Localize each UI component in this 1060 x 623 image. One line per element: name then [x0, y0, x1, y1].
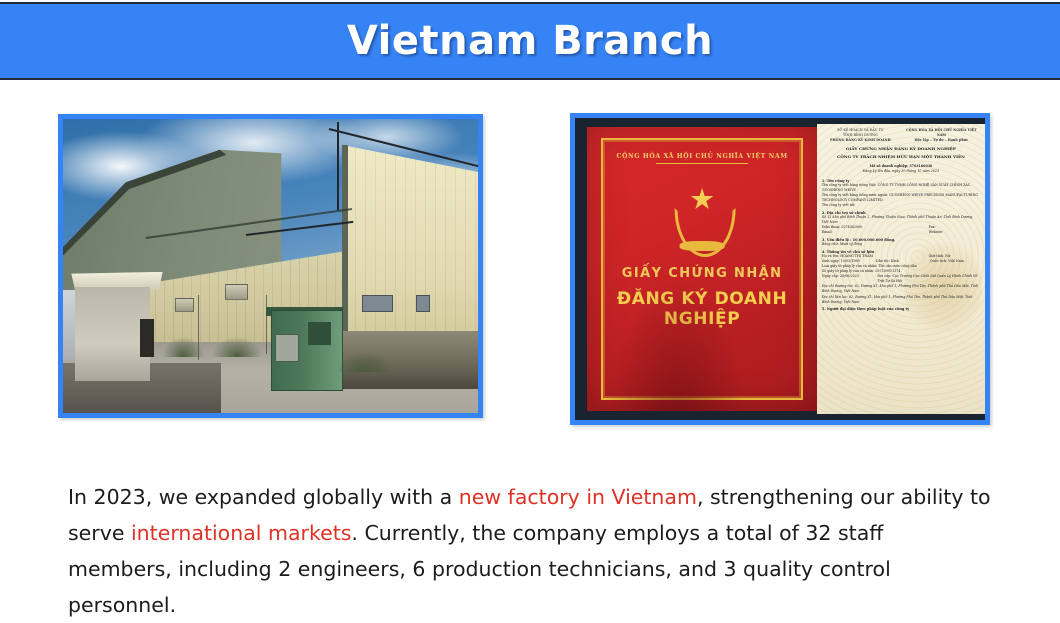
- owner-id-issue-date: Ngày cấp: 28/06/2023: [822, 274, 873, 284]
- section-2-website: Website:: [929, 230, 980, 235]
- section-2-email: Email:: [822, 230, 925, 235]
- certificate-heading-1: GIẤY CHỨNG NHẬN ĐĂNG KÝ DOANH NGHIỆP: [822, 146, 980, 153]
- guard-booth-panel: [275, 334, 300, 362]
- vietnam-emblem-icon: [668, 184, 737, 252]
- section-1-line-3: Tên công ty viết tắt:: [822, 203, 980, 208]
- cover-title-line-1: GIẤY CHỨNG NHẬN: [587, 266, 817, 281]
- cover-rule: [656, 163, 748, 164]
- section-2-email-web-row: Email: Website:: [822, 230, 980, 235]
- section-3-amount-words: Bằng chữ: Mười tỷ đồng: [822, 242, 980, 247]
- owner-nationality: Quốc tịch: Việt Nam: [930, 259, 980, 264]
- air-conditioner-unit: [175, 298, 194, 312]
- cover-country-line: CỘNG HÒA XÃ HỘI CHỦ NGHĨA VIỆT NAM: [587, 153, 817, 160]
- owner-permanent-address: Địa chỉ thường trú: 62, Đường X1, khu ph…: [822, 284, 980, 294]
- section-1-line-2: Tên công ty viết bằng tiếng nước ngoài: …: [822, 193, 980, 203]
- entrance-door: [140, 319, 155, 357]
- certificate-heading-2: CÔNG TY TRÁCH NHIỆM HỮU HẠN MỘT THÀNH VI…: [822, 154, 980, 161]
- first-registration-date: Đăng ký lần đầu, ngày 30 tháng 10 năm 20…: [822, 169, 980, 174]
- section-2-address: Số 12 khu phố Bình Thuận 2, Phường Thuận…: [822, 215, 980, 225]
- certificate-page: SỞ KẾ HOẠCH VÀ ĐẦU TƯ TỈNH BÌNH DƯƠNG PH…: [817, 124, 985, 414]
- paragraph-segment-1: In 2023, we expanded globally with a: [68, 485, 459, 509]
- slide-header-band: Vietnam Branch: [0, 2, 1060, 80]
- section-4-issue-row: Ngày cấp: 28/06/2023 Nơi cấp: Cục Trưởng…: [822, 274, 980, 284]
- section-1-line-1: Tên công ty viết bằng tiếng Việt: CÔNG T…: [822, 183, 980, 193]
- window: [362, 295, 393, 312]
- nation-line-2: Độc lập – Tự do – Hạnh phúc: [903, 138, 980, 143]
- paragraph-highlight-new-factory: new factory in Vietnam: [459, 485, 697, 509]
- cover-title-line-2: ĐĂNG KÝ DOANH NGHIỆP: [587, 289, 817, 329]
- nation-line-1: CỘNG HÒA XÃ HỘI CHỦ NGHĨA VIỆT NAM: [903, 128, 980, 138]
- downpipe: [266, 295, 267, 354]
- section-5-heading: 5. Người đại diện theo pháp luật của côn…: [822, 307, 980, 311]
- nation-motto-block: CỘNG HÒA XÃ HỘI CHỦ NGHĨA VIỆT NAM Độc l…: [903, 128, 980, 142]
- emblem-band: [680, 241, 724, 251]
- air-conditioner-unit: [225, 284, 248, 301]
- emblem-star: [690, 188, 713, 211]
- ministry-line-3: PHÒNG ĐĂNG KÝ KINH DOANH: [822, 138, 899, 143]
- page-title: Vietnam Branch: [347, 18, 713, 64]
- shrub: [337, 351, 395, 372]
- owner-contact-address: Địa chỉ liên lạc: 62, Đường X1, khu phố …: [822, 295, 980, 305]
- shrub: [163, 337, 205, 358]
- business-certificate-photo[interactable]: CỘNG HÒA XÃ HỘI CHỦ NGHĨA VIỆT NAM GIẤY …: [570, 113, 990, 425]
- shrub: [212, 337, 262, 358]
- certificate-photo-canvas: CỘNG HÒA XÃ HỘI CHỦ NGHĨA VIỆT NAM GIẤY …: [575, 118, 985, 420]
- window: [416, 295, 430, 312]
- guard-booth-window: [308, 322, 331, 346]
- body-paragraph: In 2023, we expanded globally with a new…: [68, 479, 993, 623]
- owner-id-issue-place: Nơi cấp: Cục Trưởng Cục Cảnh Sát Quản Lý…: [877, 274, 980, 284]
- certificate-body: 1. Tên công ty Tên công ty viết bằng tiế…: [822, 179, 980, 311]
- certificate-cover: CỘNG HÒA XÃ HỘI CHỦ NGHĨA VIỆT NAM GIẤY …: [587, 127, 817, 411]
- factory-photo-canvas: [63, 119, 478, 413]
- page-header-row: SỞ KẾ HOẠCH VÀ ĐẦU TƯ TỈNH BÌNH DƯƠNG PH…: [822, 128, 980, 142]
- issuing-authority-block: SỞ KẾ HOẠCH VÀ ĐẦU TƯ TỈNH BÌNH DƯƠNG PH…: [822, 128, 899, 142]
- power-pole: [337, 122, 339, 210]
- paragraph-highlight-international-markets: international markets: [131, 521, 351, 545]
- factory-photo[interactable]: [58, 114, 483, 418]
